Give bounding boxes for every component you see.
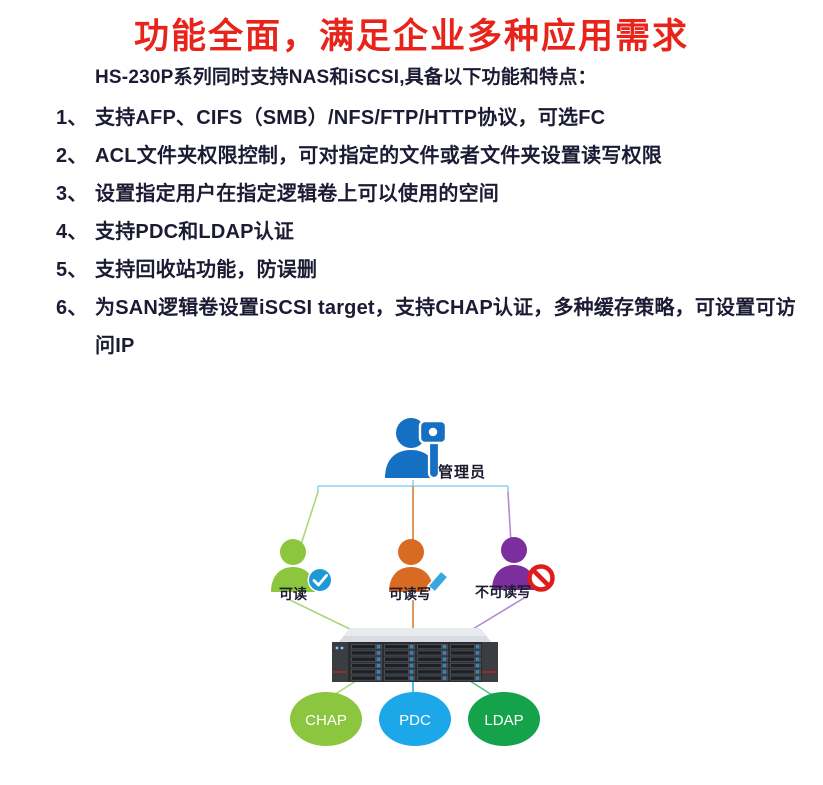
list-item-number: 6、 (56, 289, 95, 327)
protocol-ellipse-pdc: PDC (379, 692, 451, 746)
connector-read-to-server (290, 600, 356, 632)
list-item-number: 2、 (56, 137, 95, 175)
list-item-text: 为SAN逻辑卷设置iSCSI target，支持CHAP认证，多种缓存策略，可设… (95, 289, 796, 365)
list-item: 5、 支持回收站功能，防误删 (56, 251, 796, 289)
list-item-text: 支持AFP、CIFS（SMB）/NFS/FTP/HTTP协议，可选FC (95, 99, 796, 137)
protocol-label-ldap: LDAP (484, 712, 523, 729)
list-item-number: 4、 (56, 213, 95, 251)
list-item-number: 3、 (56, 175, 95, 213)
list-item-text: 支持PDC和LDAP认证 (95, 213, 796, 251)
list-item: 4、 支持PDC和LDAP认证 (56, 213, 796, 251)
user-label-read: 可读 (279, 584, 307, 604)
protocol-ellipse-ldap: LDAP (468, 692, 540, 746)
list-item-text: 支持回收站功能，防误删 (95, 251, 796, 289)
rack-storage-server-icon (332, 628, 498, 682)
list-item: 1、 支持AFP、CIFS（SMB）/NFS/FTP/HTTP协议，可选FC (56, 99, 796, 137)
protocol-label-pdc: PDC (399, 712, 431, 729)
list-item-number: 1、 (56, 99, 95, 137)
permissions-architecture-diagram: CHAP PDC LDAP 管理员 可读 可读写 不可读写 (0, 400, 823, 785)
check-badge-icon (309, 569, 331, 591)
page-title: 功能全面，满足企业多种应用需求 (0, 8, 823, 59)
intro-paragraph: HS-230P系列同时支持NAS和iSCSI,具备以下功能和特点： (95, 62, 597, 89)
list-item: 6、 为SAN逻辑卷设置iSCSI target，支持CHAP认证，多种缓存策略… (56, 289, 796, 365)
list-item-text: 设置指定用户在指定逻辑卷上可以使用的空间 (95, 175, 796, 213)
protocol-label-chap: CHAP (305, 712, 347, 729)
user-label-noaccess: 不可读写 (475, 582, 531, 602)
protocol-ellipse-chap: CHAP (290, 692, 362, 746)
admin-label: 管理员 (438, 461, 486, 482)
user-label-readwrite: 可读写 (389, 584, 431, 604)
list-item: 2、 ACL文件夹权限控制，可对指定的文件或者文件夹设置读写权限 (56, 137, 796, 175)
connector-noaccess-to-server (468, 598, 524, 632)
admin-key-person-icon (385, 418, 446, 478)
list-item: 3、 设置指定用户在指定逻辑卷上可以使用的空间 (56, 175, 796, 213)
list-item-text: ACL文件夹权限控制，可对指定的文件或者文件夹设置读写权限 (95, 137, 796, 175)
prohibited-badge-icon (528, 565, 554, 591)
feature-list: 1、 支持AFP、CIFS（SMB）/NFS/FTP/HTTP协议，可选FC 2… (56, 99, 796, 365)
list-item-number: 5、 (56, 251, 95, 289)
